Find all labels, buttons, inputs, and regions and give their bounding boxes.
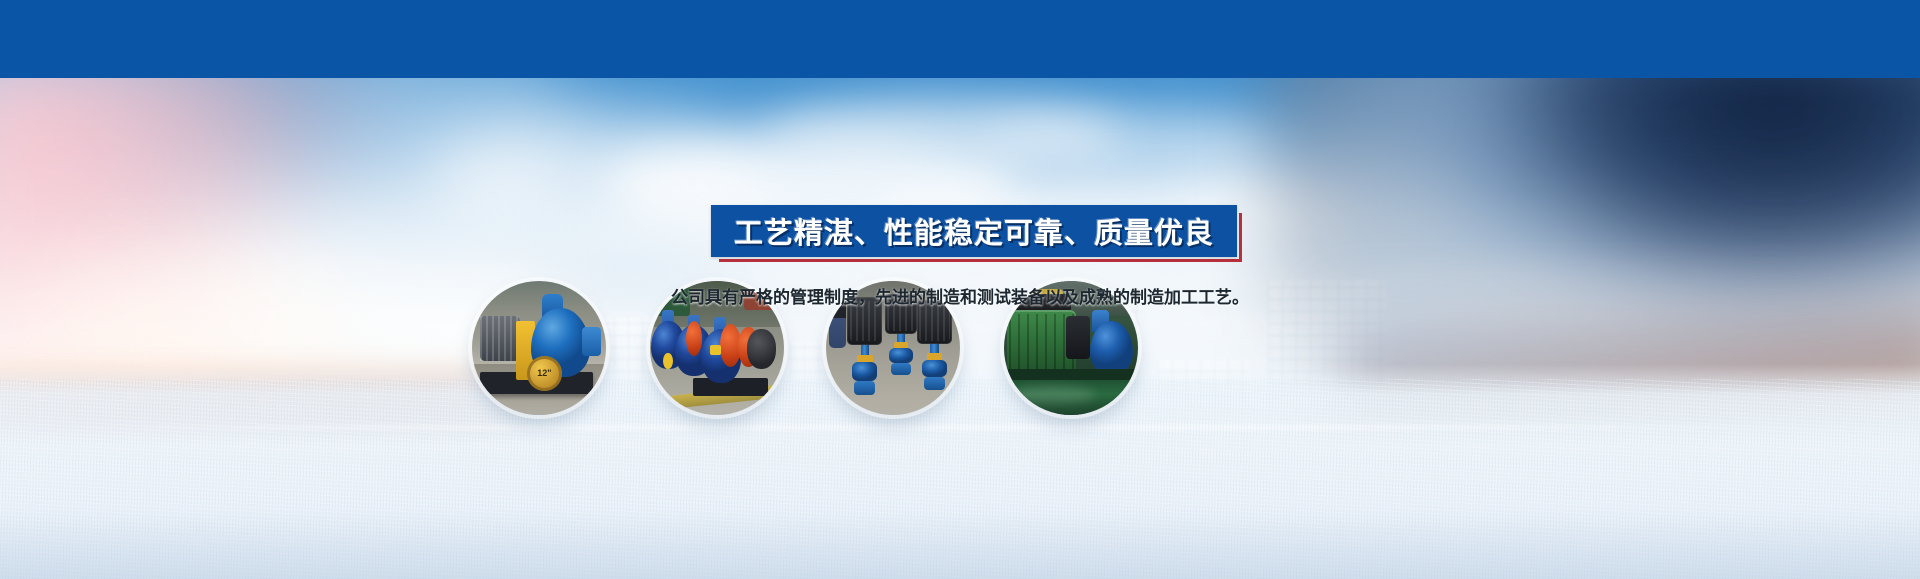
background-scene — [0, 78, 1920, 579]
page-title: 工艺精湛、性能稳定可靠、质量优良 — [734, 210, 1214, 252]
list-item[interactable]: 12" — [472, 281, 606, 415]
headline-plaque: 工艺精湛、性能稳定可靠、质量优良 — [711, 205, 1237, 257]
top-blue-bar — [0, 0, 1920, 78]
pump-size-badge: 12" — [537, 368, 551, 378]
banner-stage: 工艺精湛、性能稳定可靠、质量优良 公司具有严格的管理制度，先进的制造和测试装备以… — [0, 0, 1920, 579]
hero-subtitle: 公司具有严格的管理制度，先进的制造和测试装备以及成熟的制造加工工艺。 — [671, 283, 1249, 308]
headline-plaque-wrapper: 工艺精湛、性能稳定可靠、质量优良 — [711, 205, 1237, 257]
ground-shade — [0, 509, 1920, 579]
split-case-pump-photo: 12" — [472, 281, 606, 415]
